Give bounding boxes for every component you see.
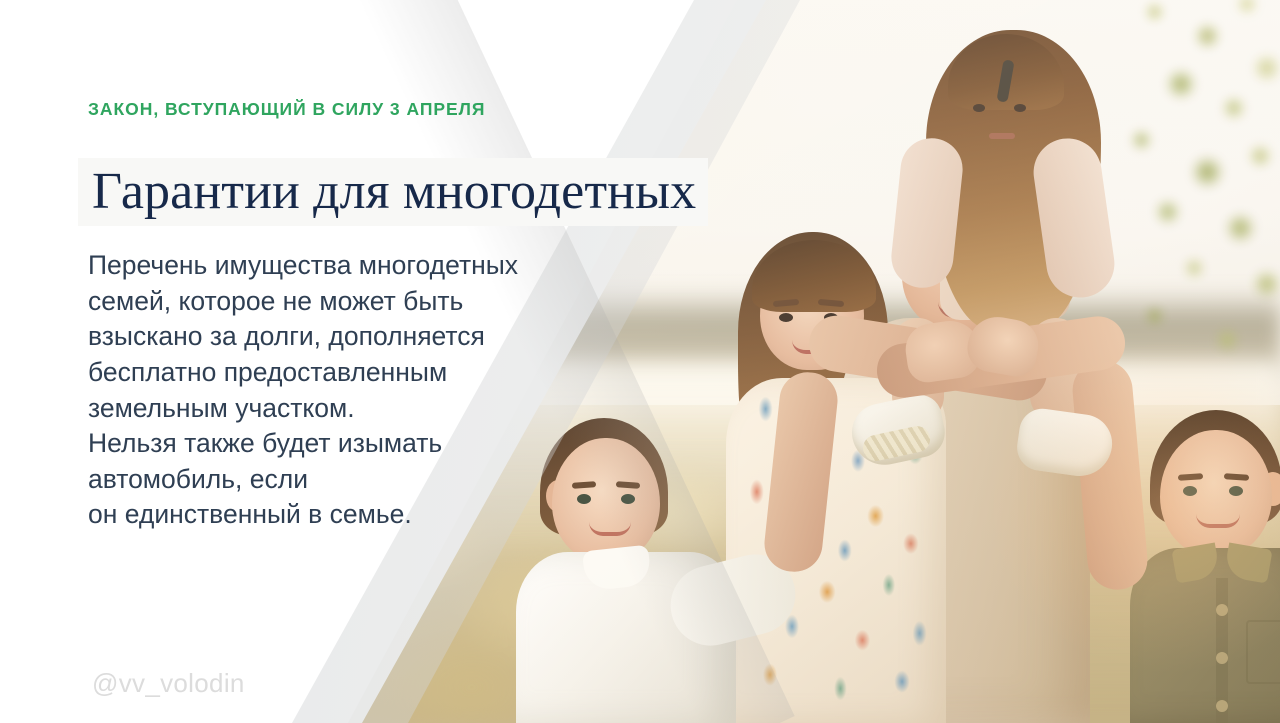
eyebrow-label: ЗАКОН, ВСТУПАЮЩИЙ В СИЛУ 3 АПРЕЛЯ (88, 99, 485, 120)
text-layer: ЗАКОН, ВСТУПАЮЩИЙ В СИЛУ 3 АПРЕЛЯ Гарант… (0, 0, 1280, 723)
page-title: Гарантии для многодетных (92, 166, 696, 218)
title-band: Гарантии для многодетных (78, 158, 708, 226)
body-paragraph: Перечень имущества многодетных семей, ко… (88, 248, 608, 533)
slide-canvas: ЗАКОН, ВСТУПАЮЩИЙ В СИЛУ 3 АПРЕЛЯ Гарант… (0, 0, 1280, 723)
account-handle-watermark: @vv_volodin (92, 668, 245, 699)
